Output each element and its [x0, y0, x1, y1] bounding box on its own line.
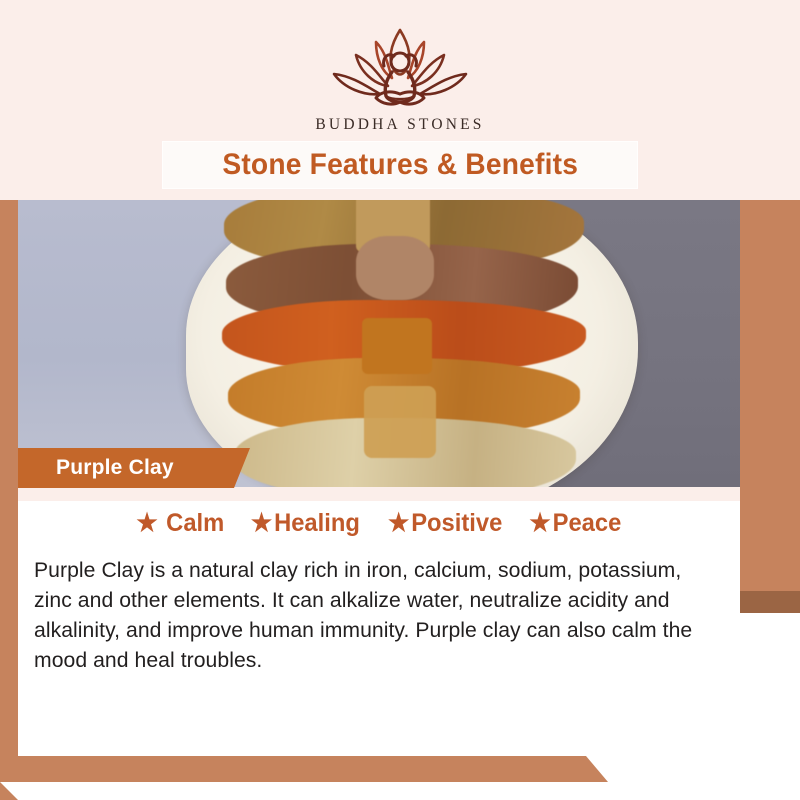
benefit-keyword-label: Calm: [166, 509, 224, 538]
page-title: Stone Features & Benefits: [222, 148, 578, 182]
lotus-meditation-icon: [318, 22, 482, 114]
frame-corner-bottom-right-spur: [0, 782, 20, 800]
product-description: Purple Clay is a natural clay rich in ir…: [34, 555, 714, 675]
star-icon: ★: [136, 511, 157, 536]
benefit-keyword-positive: ★ Positive: [388, 509, 502, 538]
frame-band-left: [0, 191, 18, 756]
photo-swatch-3: [362, 318, 432, 374]
benefit-keyword-label: Healing: [274, 509, 360, 538]
stone-features-poster: BUDDHA STONES Stone Features & Benefits …: [0, 0, 800, 800]
brand-wordmark: BUDDHA STONES: [0, 116, 800, 134]
benefit-keyword-calm: ★ Calm: [136, 509, 224, 538]
frame-corner-bottom-left: [0, 740, 18, 760]
product-name-banner: Purple Clay: [18, 448, 250, 488]
benefit-keyword-peace: ★ Peace: [530, 509, 622, 538]
photo-swatch-2: [356, 236, 434, 300]
star-icon: ★: [530, 511, 551, 536]
content-top-tint: [18, 487, 740, 501]
brand-logo: BUDDHA STONES: [0, 22, 800, 134]
benefit-keywords: ★ Calm ★ Healing ★ Positive ★ Peace: [18, 509, 740, 538]
product-photo: [18, 200, 740, 487]
star-icon: ★: [388, 511, 409, 536]
frame-band-right-lower: [740, 591, 800, 613]
title-ribbon: Stone Features & Benefits: [163, 142, 637, 188]
photo-swatch-4: [364, 386, 436, 458]
frame-band-bottom: [0, 756, 800, 782]
product-name-label: Purple Clay: [56, 456, 174, 480]
benefit-keyword-label: Peace: [553, 509, 622, 538]
content-panel: ★ Calm ★ Healing ★ Positive ★ Peace Purp…: [18, 487, 740, 756]
benefit-keyword-healing: ★ Healing: [251, 509, 360, 538]
star-icon: ★: [251, 511, 272, 536]
benefit-keyword-label: Positive: [411, 509, 502, 538]
